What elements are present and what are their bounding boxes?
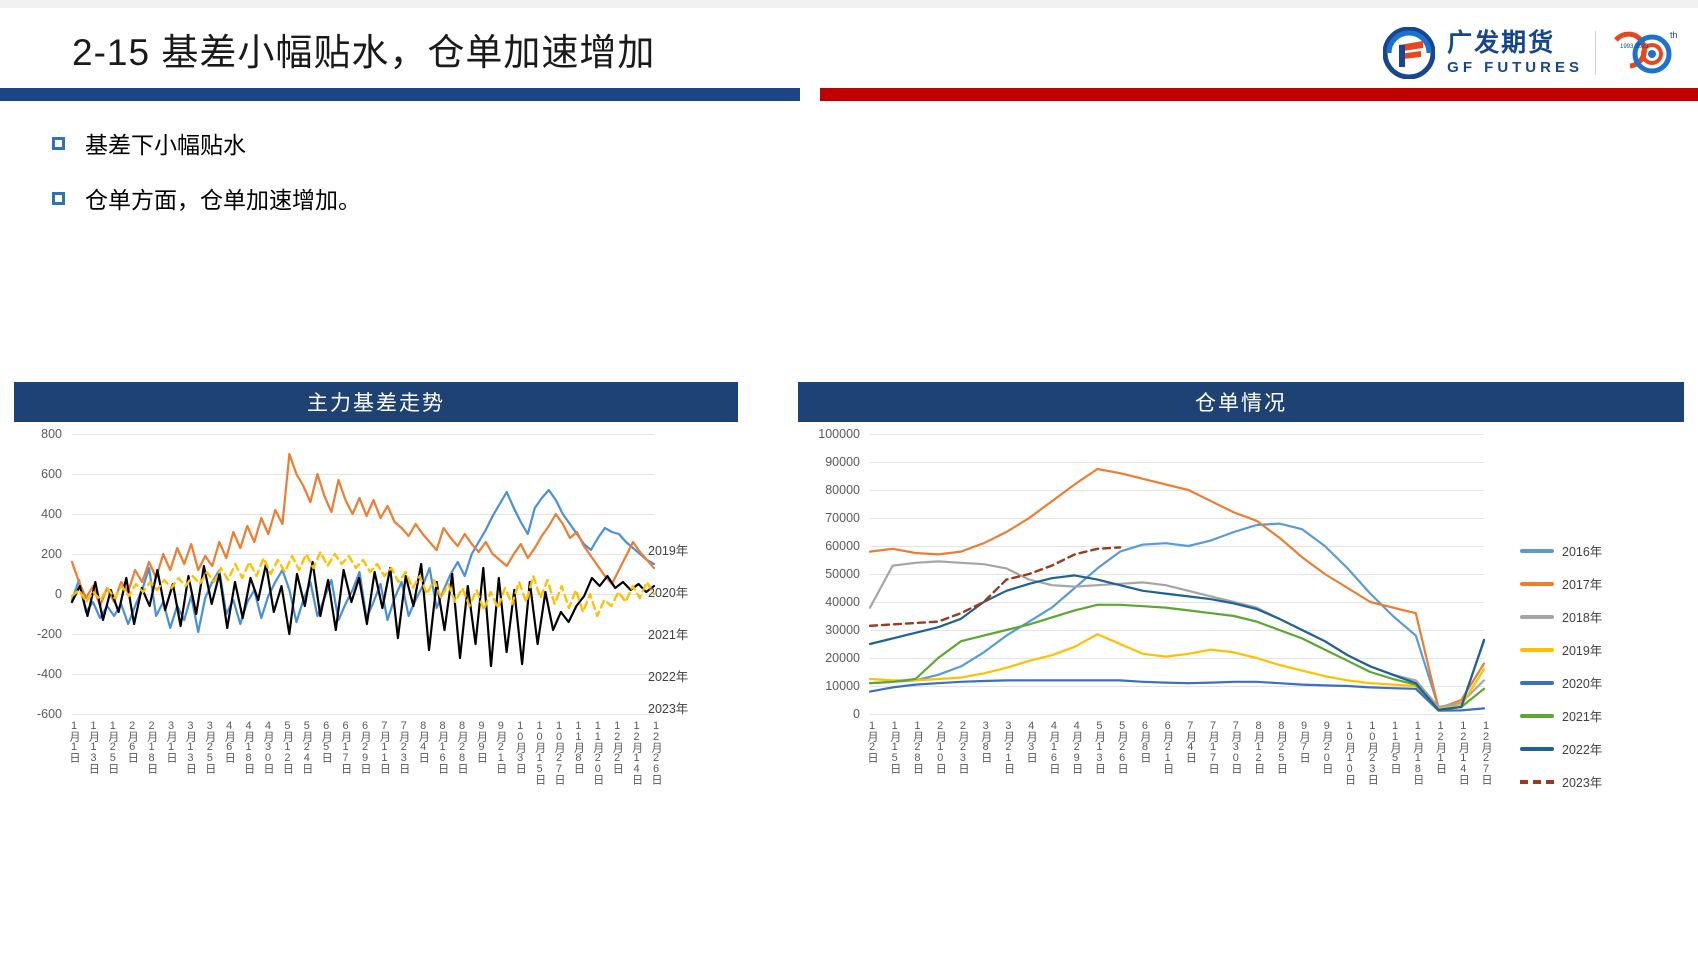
brand-logo: 广发期货 GF FUTURES th 1993 2023 [1383, 24, 1682, 82]
x-axis-tick-label: 11月8日 [570, 720, 586, 773]
logo-divider [1595, 31, 1596, 75]
x-axis-tick-label: 5月24日 [299, 720, 315, 773]
bullet-item-1: 基差下小幅贴水 [52, 126, 246, 160]
series-line-2022年 [870, 575, 1484, 709]
chart-warehouse: 仓单情况 10000090000800007000060000500004000… [798, 382, 1684, 842]
series-end-label-2021年: 2021年 [648, 624, 688, 643]
legend-label: 2021年 [1562, 706, 1602, 725]
legend-label: 2023年 [1562, 772, 1602, 791]
legend-label: 2016年 [1562, 541, 1602, 560]
header-rule-gap [800, 88, 820, 101]
x-axis-tick-label: 1月28日 [909, 720, 925, 773]
legend-item-2019年[interactable]: 2019年 [1520, 633, 1602, 666]
x-axis-tick-label: 5月12日 [279, 720, 295, 773]
x-axis-tick-label: 7月30日 [1228, 720, 1244, 773]
x-axis-tick-label: 3月21日 [1000, 720, 1016, 773]
legend-item-2020年[interactable]: 2020年 [1520, 666, 1602, 699]
x-axis-tick-label: 1月15日 [887, 720, 903, 773]
series-end-label-2022年: 2022年 [648, 666, 688, 685]
x-axis-tick-label: 3月13日 [182, 720, 198, 773]
x-axis-tick-label: 8月25日 [1273, 720, 1289, 773]
legend-item-2018年[interactable]: 2018年 [1520, 600, 1602, 633]
x-axis-tick-label: 3月8日 [978, 720, 994, 762]
x-axis-tick-label: 6月29日 [357, 720, 373, 773]
x-axis-tick-label: 4月29日 [1069, 720, 1085, 773]
series-line-2021年 [72, 562, 654, 666]
legend-swatch-icon [1520, 714, 1554, 718]
legend-label: 2019年 [1562, 640, 1602, 659]
chart-legend: 2016年2017年2018年2019年2020年2021年2022年2023年 [1520, 534, 1602, 798]
x-axis-tick-label: 5月26日 [1114, 720, 1130, 773]
x-axis-tick-label: 9月21日 [493, 720, 509, 773]
x-axis-tick-label: 12月27日 [1478, 720, 1494, 784]
x-axis-tick-label: 2月10日 [932, 720, 948, 773]
x-axis-tick-label: 4月6日 [221, 720, 237, 762]
x-axis-tick-label: 6月21日 [1160, 720, 1176, 773]
legend-swatch-icon [1520, 582, 1554, 586]
legend-swatch-icon [1520, 615, 1554, 619]
x-axis-tick-label: 9月7日 [1296, 720, 1312, 762]
bullet-text-2: 仓单方面，仓单加速增加。 [85, 181, 361, 215]
legend-item-2017年[interactable]: 2017年 [1520, 567, 1602, 600]
bullet-text-1: 基差下小幅贴水 [85, 126, 246, 160]
series-line-2019年 [870, 634, 1484, 709]
legend-item-2022年[interactable]: 2022年 [1520, 732, 1602, 765]
x-axis-tick-label: 8月16日 [435, 720, 451, 773]
x-axis-tick-label: 5月13日 [1091, 720, 1107, 773]
chart-basis-title: 主力基差走势 [14, 382, 738, 422]
x-axis-tick-label: 2月6日 [124, 720, 140, 762]
legend-swatch-icon [1520, 549, 1554, 553]
x-axis-tick-label: 7月4日 [1182, 720, 1198, 762]
x-axis-tick-label: 10月10日 [1342, 720, 1358, 784]
legend-label: 2017年 [1562, 574, 1602, 593]
x-axis-tick-label: 10月27日 [551, 720, 567, 784]
chart-warehouse-title: 仓单情况 [798, 382, 1684, 422]
x-axis-tick-label: 10月15日 [532, 720, 548, 784]
x-axis-tick-label: 3月25日 [202, 720, 218, 773]
legend-swatch-icon [1520, 681, 1554, 685]
x-axis-tick-label: 10月23日 [1364, 720, 1380, 784]
bullet-square-icon [52, 192, 65, 205]
x-axis-tick-label: 8月12日 [1251, 720, 1267, 773]
top-strip [0, 0, 1698, 8]
x-axis-tick-label: 1月1日 [66, 720, 82, 762]
x-axis-tick-label: 12月1日 [1433, 720, 1449, 773]
x-axis-tick-label: 9月9日 [473, 720, 489, 762]
x-axis-tick-label: 6月8日 [1137, 720, 1153, 762]
x-axis-tick-label: 3月1日 [163, 720, 179, 762]
anniversary-badge: th 1993 2023 [1608, 26, 1682, 80]
chart-basis-plot: 8006004002000-200-400-6001月1日1月13日1月25日2… [14, 422, 738, 842]
legend-swatch-icon [1520, 747, 1554, 751]
header-rule-red [820, 88, 1698, 101]
x-axis-tick-label: 4月3日 [1023, 720, 1039, 762]
x-axis-tick-label: 1月13日 [85, 720, 101, 773]
logo-text-cn: 广发期货 [1447, 31, 1583, 56]
chart-warehouse-plot: 1000009000080000700006000050000400003000… [798, 422, 1684, 842]
legend-label: 2020年 [1562, 673, 1602, 692]
legend-swatch-icon [1520, 780, 1554, 784]
x-axis-tick-label: 8月4日 [415, 720, 431, 762]
legend-item-2021年[interactable]: 2021年 [1520, 699, 1602, 732]
legend-label: 2022年 [1562, 739, 1602, 758]
x-axis-tick-label: 7月11日 [376, 720, 392, 773]
x-axis-tick-label: 7月23日 [396, 720, 412, 773]
series-line-2021年 [870, 605, 1484, 710]
x-axis-tick-label: 7月17日 [1205, 720, 1221, 773]
anniversary-years: 1993 2023 [1620, 44, 1648, 51]
x-axis-tick-label: 11月5日 [1387, 720, 1403, 773]
page-title: 2-15 基差小幅贴水，仓单加速增加 [72, 22, 655, 76]
x-axis-tick-label: 4月30日 [260, 720, 276, 773]
x-axis-tick-label: 4月18日 [241, 720, 257, 773]
gf-logo-icon [1383, 27, 1435, 79]
x-axis-tick-label: 12月14日 [1455, 720, 1471, 784]
legend-item-2016年[interactable]: 2016年 [1520, 534, 1602, 567]
header-rule-blue [0, 88, 800, 101]
x-axis-tick-label: 11月20日 [590, 720, 606, 784]
legend-label: 2018年 [1562, 607, 1602, 626]
series-end-label-2020年: 2020年 [648, 582, 688, 601]
x-axis-tick-label: 1月2日 [864, 720, 880, 762]
x-axis-tick-label: 4月16日 [1046, 720, 1062, 773]
slide-header: 2-15 基差小幅贴水，仓单加速增加 广发期货 GF FUTURES th [0, 8, 1698, 86]
series-end-label-2023年: 2023年 [648, 698, 688, 717]
logo-text-en: GF FUTURES [1447, 60, 1583, 75]
logo-text: 广发期货 GF FUTURES [1447, 31, 1583, 75]
x-axis-tick-label: 2月23日 [955, 720, 971, 773]
bullet-item-2: 仓单方面，仓单加速增加。 [52, 181, 361, 215]
x-axis-tick-label: 6月17日 [338, 720, 354, 773]
x-axis-tick-label: 9月20日 [1319, 720, 1335, 773]
chart-basis: 主力基差走势 8006004002000-200-400-6001月1日1月13… [14, 382, 738, 842]
x-axis-tick-label: 11月18日 [1410, 720, 1426, 784]
x-axis-tick-label: 6月5日 [318, 720, 334, 762]
bullet-square-icon [52, 137, 65, 150]
x-axis-tick-label: 1月25日 [105, 720, 121, 773]
x-axis-tick-label: 12月14日 [629, 720, 645, 784]
x-axis-tick-label: 12月26日 [648, 720, 664, 784]
x-axis-tick-label: 2月18日 [144, 720, 160, 773]
x-axis-tick-label: 8月28日 [454, 720, 470, 773]
x-axis-tick-label: 12月2日 [609, 720, 625, 773]
x-axis-tick-label: 10月3日 [512, 720, 528, 773]
series-end-label-2019年: 2019年 [648, 540, 688, 559]
legend-item-2023年[interactable]: 2023年 [1520, 765, 1602, 798]
legend-swatch-icon [1520, 648, 1554, 652]
svg-text:th: th [1670, 30, 1678, 40]
